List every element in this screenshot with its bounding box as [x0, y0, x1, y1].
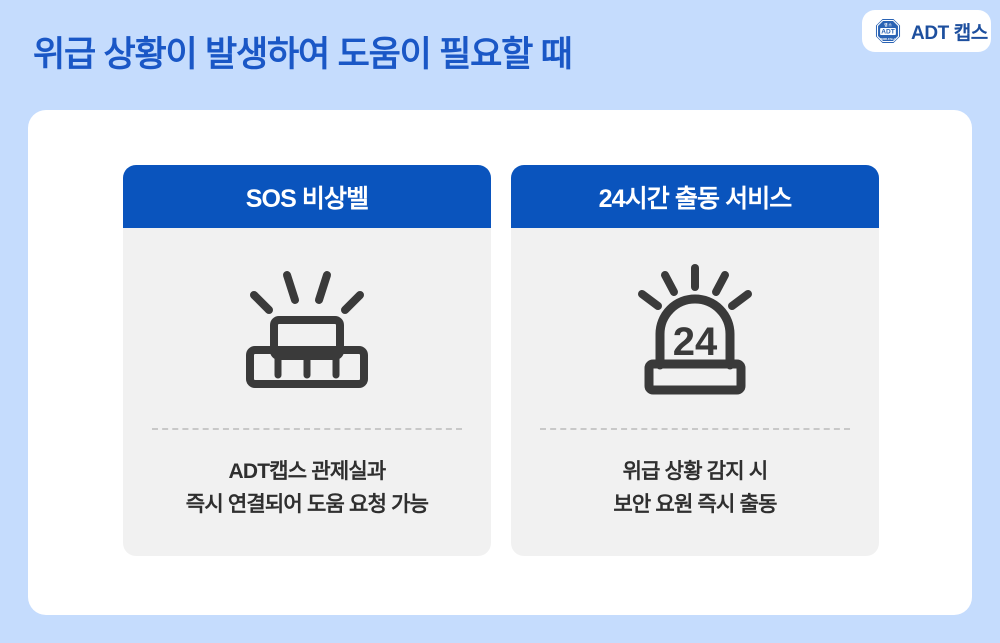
card-divider [540, 428, 850, 430]
adt-shield-icon: ADT 캡 스 WORLD No.1 [874, 17, 902, 45]
adt-caps-wordmark: ADT 캡스 [911, 18, 988, 45]
card-body: 24 위급 상황 감지 시 보안 요원 즉시 출동 [511, 228, 879, 556]
service-card-24h-dispatch[interactable]: 24시간 출동 서비스 24 [511, 165, 879, 556]
card-divider [152, 428, 462, 430]
card-title: 24시간 출동 서비스 [599, 179, 792, 215]
page-header: 위급 상황이 발생하여 도움이 필요할 때 ADT 캡 스 WORLD No.1… [0, 0, 1000, 110]
page-title: 위급 상황이 발생하여 도움이 필요할 때 [33, 26, 572, 77]
svg-text:캡 스: 캡 스 [884, 22, 892, 27]
card-icon-area [232, 228, 382, 428]
card-icon-area: 24 [620, 228, 770, 428]
card-description-line: ADT캡스 관제실과 [186, 456, 428, 489]
card-description-line: 위급 상황 감지 시 [613, 456, 776, 489]
card-description: ADT캡스 관제실과 즉시 연결되어 도움 요청 가능 [186, 456, 428, 521]
svg-text:ADT: ADT [881, 29, 894, 36]
card-title: SOS 비상벨 [246, 179, 368, 215]
adt-caps-logo: ADT 캡 스 WORLD No.1 ADT 캡스 [862, 10, 991, 52]
emergency-bell-icon [232, 263, 382, 393]
card-description: 위급 상황 감지 시 보안 요원 즉시 출동 [613, 456, 776, 521]
card-body: ADT캡스 관제실과 즉시 연결되어 도움 요청 가능 [123, 228, 491, 556]
card-header: 24시간 출동 서비스 [511, 165, 879, 228]
service-card-list: SOS 비상벨 [123, 165, 879, 556]
siren-24-icon: 24 [620, 258, 770, 398]
card-description-line: 즉시 연결되어 도움 요청 가능 [186, 489, 428, 522]
svg-text:WORLD No.1: WORLD No.1 [881, 38, 897, 41]
content-panel: SOS 비상벨 [28, 110, 972, 615]
service-card-sos-bell[interactable]: SOS 비상벨 [123, 165, 491, 556]
siren-24-label: 24 [673, 320, 718, 364]
card-description-line: 보안 요원 즉시 출동 [613, 489, 776, 522]
card-header: SOS 비상벨 [123, 165, 491, 228]
